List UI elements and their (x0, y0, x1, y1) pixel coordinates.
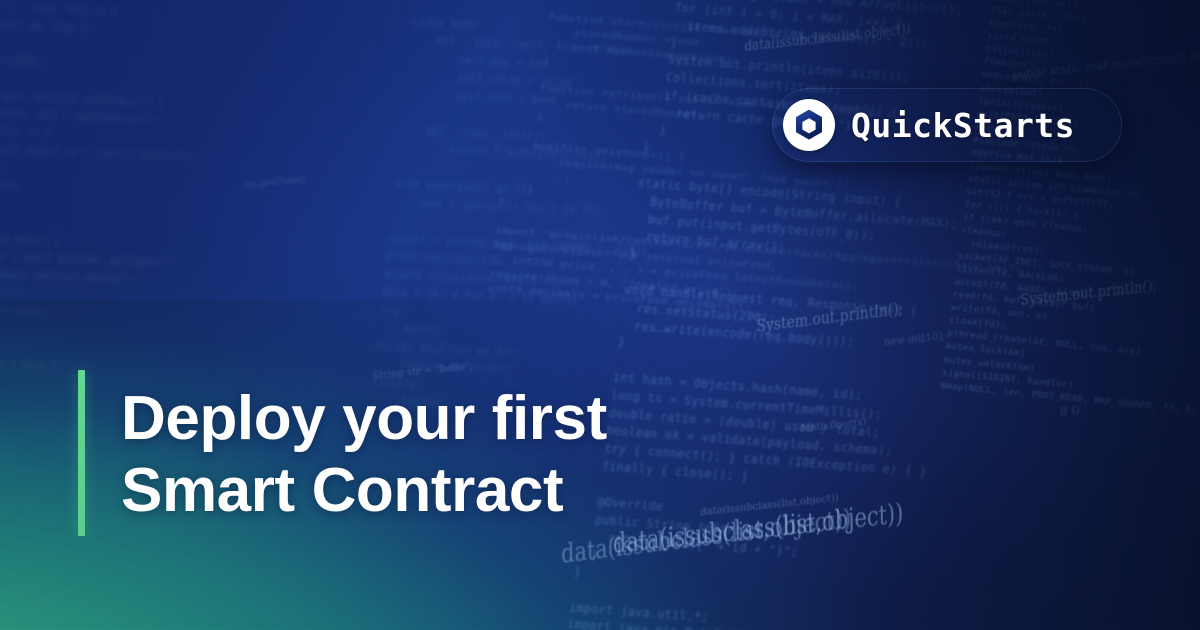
page-title-line-1: Deploy your first (121, 383, 761, 455)
headline-accent-bar (78, 370, 85, 536)
page-title-line-2: Smart Contract (121, 455, 761, 527)
quickstarts-badge[interactable]: QuickStarts (772, 88, 1122, 162)
chainlink-hexagon-icon (783, 99, 835, 151)
social-card: pragma solidity ^0.8.19; contract Simple… (0, 0, 1200, 630)
quickstarts-badge-label: QuickStarts (851, 109, 1075, 142)
page-title: Deploy your first Smart Contract (121, 383, 761, 527)
